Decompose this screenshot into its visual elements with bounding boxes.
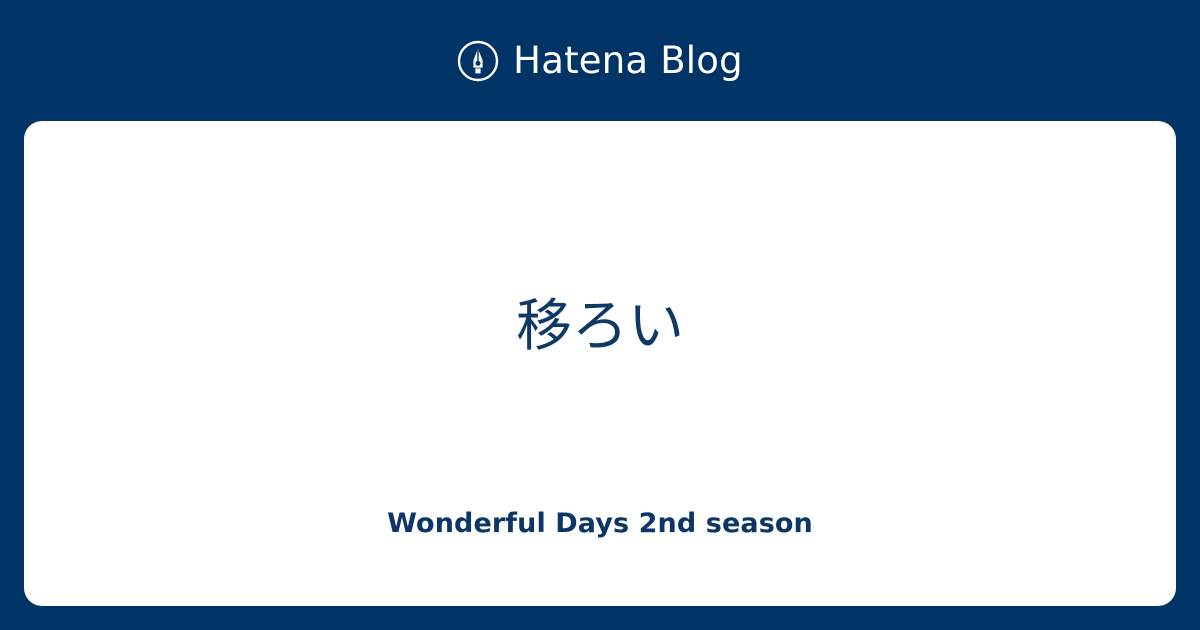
- ogp-card-canvas: Hatena Blog 移ろい Wonderful Days 2nd seaso…: [0, 0, 1200, 630]
- entry-card: 移ろい Wonderful Days 2nd season: [24, 121, 1176, 606]
- blog-name: Wonderful Days 2nd season: [24, 506, 1176, 541]
- fountain-pen-nib-in-circle-icon: [457, 40, 499, 82]
- entry-title: 移ろい: [24, 293, 1176, 361]
- brand-header: Hatena Blog: [0, 0, 1200, 121]
- brand-name: Hatena Blog: [513, 42, 743, 79]
